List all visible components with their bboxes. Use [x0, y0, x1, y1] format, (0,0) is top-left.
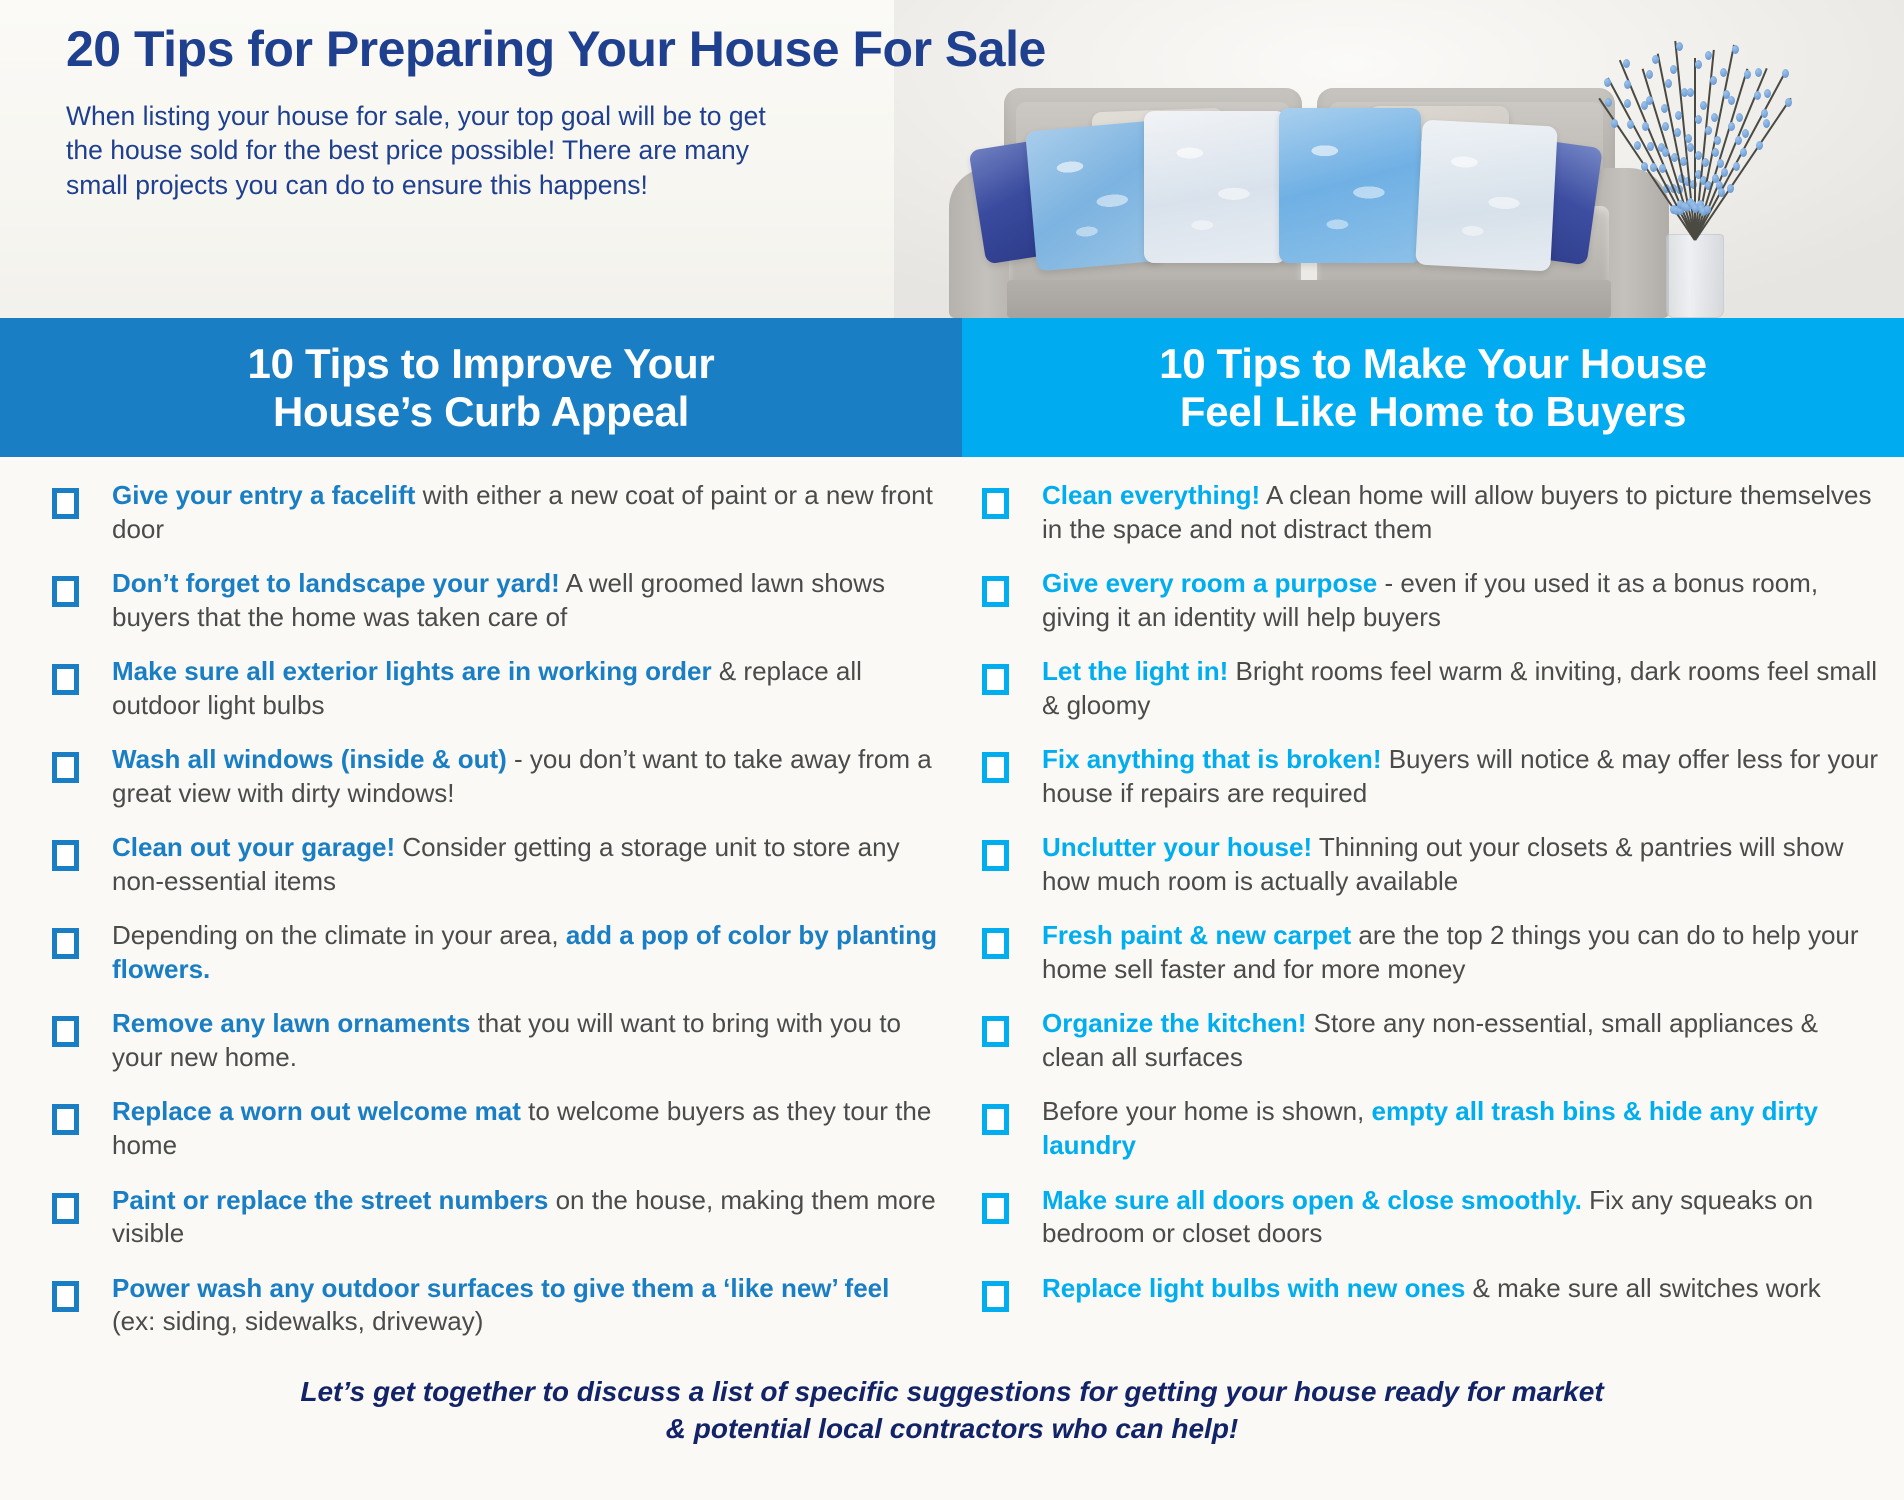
- tip-bold-lead: Organize the kitchen!: [1042, 1008, 1306, 1038]
- tip-bold-lead: Fresh paint & new carpet: [1042, 920, 1351, 950]
- checklist-item-text: Unclutter your house! Thinning out your …: [1009, 831, 1884, 898]
- flower-bud: [1754, 91, 1761, 100]
- flower-bud: [1714, 136, 1721, 145]
- sofa-illustration: [949, 88, 1669, 318]
- flower-bud: [1641, 162, 1648, 171]
- pillow-white-left: [1144, 111, 1286, 263]
- flower-vase: [1594, 43, 1809, 318]
- glass-vase: [1666, 234, 1724, 318]
- checklist-item-text: Give every room a purpose - even if you …: [1009, 567, 1884, 634]
- band-left-curb-appeal: 10 Tips to Improve Your House’s Curb App…: [0, 318, 962, 457]
- checkbox-right-4[interactable]: [982, 752, 1009, 783]
- checklist-item-text: Remove any lawn ornaments that you will …: [79, 1007, 938, 1074]
- checklist-item[interactable]: Make sure all doors open & close smoothl…: [982, 1184, 1884, 1251]
- band-right-heading-line2: Feel Like Home to Buyers: [1180, 388, 1686, 435]
- flower-bud: [1782, 69, 1789, 78]
- sofa-base: [1007, 280, 1611, 318]
- tip-bold-lead: Unclutter your house!: [1042, 832, 1312, 862]
- band-left-heading-line1: 10 Tips to Improve Your: [248, 340, 715, 387]
- flower-bud: [1646, 70, 1653, 79]
- flower-bud: [1662, 122, 1669, 131]
- tip-bold-lead: Give your entry a facelift: [112, 480, 415, 510]
- checklist-item-text: Clean out your garage! Consider getting …: [79, 831, 938, 898]
- checklist-item[interactable]: Depending on the climate in your area, a…: [52, 919, 938, 986]
- pillow-blue-center: [1279, 108, 1421, 263]
- checklist-item[interactable]: Before your home is shown, empty all tra…: [982, 1095, 1884, 1162]
- footer-callout: Let’s get together to discuss a list of …: [0, 1374, 1904, 1448]
- checklist-item-text: Let the light in! Bright rooms feel warm…: [1009, 655, 1884, 722]
- flower-bud: [1680, 157, 1687, 166]
- checklist-item-text: Make sure all exterior lights are in wor…: [79, 655, 938, 722]
- checklist-item[interactable]: Organize the kitchen! Store any non-esse…: [982, 1007, 1884, 1074]
- flower-bud: [1720, 68, 1727, 77]
- checkbox-left-9[interactable]: [52, 1193, 79, 1224]
- flower-bud: [1705, 126, 1712, 135]
- flower-bud: [1744, 70, 1751, 79]
- tip-bold-lead: Replace light bulbs with new ones: [1042, 1273, 1465, 1303]
- checklist-item[interactable]: Paint or replace the street numbers on t…: [52, 1184, 938, 1251]
- checkbox-right-6[interactable]: [982, 928, 1009, 959]
- checkbox-right-8[interactable]: [982, 1104, 1009, 1135]
- checkbox-right-1[interactable]: [982, 488, 1009, 519]
- flower-bud: [1705, 51, 1712, 60]
- tip-bold-lead: Paint or replace the street numbers: [112, 1185, 548, 1215]
- checklist-item-text: Wash all windows (inside & out) - you do…: [79, 743, 938, 810]
- tip-body: & make sure all switches work: [1465, 1273, 1820, 1303]
- tip-bold-lead: Give every room a purpose: [1042, 568, 1377, 598]
- checklist-item[interactable]: Wash all windows (inside & out) - you do…: [52, 743, 938, 810]
- band-right-heading-line1: 10 Tips to Make Your House: [1159, 340, 1707, 387]
- flower-bud: [1634, 141, 1641, 150]
- checkbox-right-7[interactable]: [982, 1016, 1009, 1047]
- tip-bold-lead: Clean out your garage!: [112, 832, 395, 862]
- checkbox-right-5[interactable]: [982, 840, 1009, 871]
- tip-bold-lead: Clean everything!: [1042, 480, 1260, 510]
- checklist-item[interactable]: Fix anything that is broken! Buyers will…: [982, 743, 1884, 810]
- flower-bud: [1761, 109, 1768, 118]
- flower-bud: [1727, 184, 1734, 193]
- tip-bold-lead: Make sure all exterior lights are in wor…: [112, 656, 712, 686]
- checklist-item-text: Power wash any outdoor surfaces to give …: [79, 1272, 938, 1339]
- tip-bold-lead: Remove any lawn ornaments: [112, 1008, 470, 1038]
- page-title: 20 Tips for Preparing Your House For Sal…: [66, 22, 966, 77]
- flower-bud: [1685, 134, 1692, 143]
- checklist-item[interactable]: Clean everything! A clean home will allo…: [982, 479, 1884, 546]
- hero-text-block: 20 Tips for Preparing Your House For Sal…: [66, 22, 966, 202]
- checkbox-left-8[interactable]: [52, 1104, 79, 1135]
- tip-bold-lead: Fix anything that is broken!: [1042, 744, 1381, 774]
- checklist-column-curb-appeal: Give your entry a facelift with either a…: [0, 479, 962, 1360]
- flower-bud: [1742, 129, 1749, 138]
- checkbox-left-4[interactable]: [52, 752, 79, 783]
- flower-bud: [1764, 89, 1771, 98]
- flower-bud: [1733, 162, 1740, 171]
- checkbox-left-6[interactable]: [52, 928, 79, 959]
- flower-bud: [1675, 111, 1682, 120]
- flower-bud: [1711, 113, 1718, 122]
- checklist-item-text: Clean everything! A clean home will allo…: [1009, 479, 1884, 546]
- tip-bold-lead: Replace a worn out welcome mat: [112, 1096, 521, 1126]
- checkbox-left-7[interactable]: [52, 1016, 79, 1047]
- tip-bold-lead: Don’t forget to landscape your yard!: [112, 568, 560, 598]
- hero-section: 20 Tips for Preparing Your House For Sal…: [0, 0, 1904, 318]
- tip-bold-lead: Let the light in!: [1042, 656, 1228, 686]
- checklist-item[interactable]: Fresh paint & new carpet are the top 2 t…: [982, 919, 1884, 986]
- flower-bud: [1700, 101, 1707, 110]
- checklist-item[interactable]: Power wash any outdoor surfaces to give …: [52, 1272, 938, 1339]
- checklist-item-text: Before your home is shown, empty all tra…: [1009, 1095, 1884, 1162]
- flower-bud: [1652, 55, 1659, 64]
- flower-bud: [1687, 143, 1694, 152]
- checklist-item-text: Depending on the climate in your area, a…: [79, 919, 938, 986]
- tip-bold-lead: Make sure all doors open & close smoothl…: [1042, 1185, 1582, 1215]
- flower-bud: [1785, 98, 1792, 107]
- checklist-columns: Give your entry a facelift with either a…: [0, 457, 1904, 1360]
- checklist-column-feel-like-home: Clean everything! A clean home will allo…: [962, 479, 1904, 1360]
- checklist-item-text: Fresh paint & new carpet are the top 2 t…: [1009, 919, 1884, 986]
- checkbox-left-10[interactable]: [52, 1281, 79, 1312]
- flower-bud: [1732, 45, 1739, 54]
- footer-line-2: & potential local contractors who can he…: [666, 1413, 1239, 1444]
- flower-bud: [1659, 164, 1666, 173]
- flower-bud: [1736, 113, 1743, 122]
- band-right-heading: 10 Tips to Make Your House Feel Like Hom…: [1159, 340, 1707, 434]
- column-heading-bands: 10 Tips to Improve Your House’s Curb App…: [0, 318, 1904, 457]
- checklist-item-text: Paint or replace the street numbers on t…: [79, 1184, 938, 1251]
- checkbox-left-5[interactable]: [52, 840, 79, 871]
- flower-bud: [1623, 59, 1630, 68]
- flower-bud: [1702, 158, 1709, 167]
- checkbox-right-10[interactable]: [982, 1281, 1009, 1312]
- flower-bud: [1710, 76, 1717, 85]
- flower-bud: [1728, 96, 1735, 105]
- tip-bold-lead: Wash all windows (inside & out): [112, 744, 507, 774]
- flower-bud: [1605, 98, 1612, 107]
- tip-body: Depending on the climate in your area,: [112, 920, 566, 950]
- checklist-item-text: Give your entry a facelift with either a…: [79, 479, 938, 546]
- checkbox-right-2[interactable]: [982, 576, 1009, 607]
- checklist-item[interactable]: Unclutter your house! Thinning out your …: [982, 831, 1884, 898]
- flower-bud: [1695, 60, 1702, 69]
- band-left-heading-line2: House’s Curb Appeal: [273, 388, 689, 435]
- checklist-item[interactable]: Replace a worn out welcome mat to welcom…: [52, 1095, 938, 1162]
- checklist-item[interactable]: Replace light bulbs with new ones & make…: [982, 1272, 1884, 1312]
- band-left-heading: 10 Tips to Improve Your House’s Curb App…: [248, 340, 715, 434]
- flower-bud: [1695, 151, 1702, 160]
- flower-bud: [1695, 115, 1702, 124]
- checklist-item[interactable]: Make sure all exterior lights are in wor…: [52, 655, 938, 722]
- flower-bud: [1712, 148, 1719, 157]
- checklist-item[interactable]: Don’t forget to landscape your yard! A w…: [52, 567, 938, 634]
- flower-bud: [1721, 168, 1728, 177]
- tip-body: (ex: siding, sidewalks, driveway): [112, 1306, 483, 1336]
- checklist-item[interactable]: Let the light in! Bright rooms feel warm…: [982, 655, 1884, 722]
- checklist-item-text: Organize the kitchen! Store any non-esse…: [1009, 1007, 1884, 1074]
- flower-bud: [1665, 79, 1672, 88]
- checkbox-left-3[interactable]: [52, 664, 79, 695]
- pillow-white-right: [1415, 120, 1557, 272]
- flower-bud: [1717, 159, 1724, 168]
- checklist-item-text: Make sure all doors open & close smoothl…: [1009, 1184, 1884, 1251]
- flower-bud: [1728, 122, 1735, 131]
- checklist-item-text: Don’t forget to landscape your yard! A w…: [79, 567, 938, 634]
- flower-bud: [1676, 42, 1683, 51]
- flower-bud: [1735, 136, 1742, 145]
- flower-bud: [1756, 141, 1763, 150]
- flower-bud: [1763, 119, 1770, 128]
- flower-bud: [1646, 96, 1653, 105]
- checklist-item[interactable]: Give every room a purpose - even if you …: [982, 567, 1884, 634]
- flower-bud: [1755, 68, 1762, 77]
- flower-bud: [1740, 148, 1747, 157]
- checklist-item-text: Replace a worn out welcome mat to welcom…: [79, 1095, 938, 1162]
- checkbox-left-2[interactable]: [52, 576, 79, 607]
- checklist-item[interactable]: Clean out your garage! Consider getting …: [52, 831, 938, 898]
- flower-bud: [1671, 153, 1678, 162]
- footer-line-1: Let’s get together to discuss a list of …: [300, 1376, 1603, 1407]
- checklist-item[interactable]: Give your entry a facelift with either a…: [52, 479, 938, 546]
- checkbox-left-1[interactable]: [52, 488, 79, 519]
- checkbox-right-9[interactable]: [982, 1193, 1009, 1224]
- tip-bold-lead: Power wash any outdoor surfaces to give …: [112, 1273, 889, 1303]
- checkbox-right-3[interactable]: [982, 664, 1009, 695]
- band-right-feel-like-home: 10 Tips to Make Your House Feel Like Hom…: [962, 318, 1904, 457]
- flower-bud: [1687, 88, 1694, 97]
- checklist-item-text: Fix anything that is broken! Buyers will…: [1009, 743, 1884, 810]
- checklist-item-text: Replace light bulbs with new ones & make…: [1009, 1272, 1884, 1306]
- flower-bud: [1642, 122, 1649, 131]
- intro-paragraph: When listing your house for sale, your t…: [66, 99, 766, 202]
- flower-bud: [1662, 148, 1669, 157]
- tip-body: Before your home is shown,: [1042, 1096, 1372, 1126]
- checklist-item[interactable]: Remove any lawn ornaments that you will …: [52, 1007, 938, 1074]
- flower-bud: [1674, 128, 1681, 137]
- flower-bud: [1624, 99, 1631, 108]
